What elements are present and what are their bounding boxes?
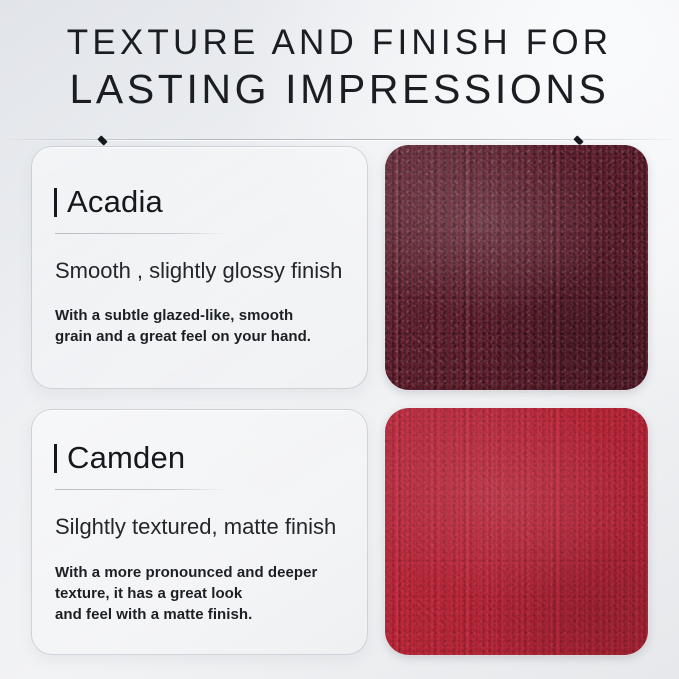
- card-acadia-title: Acadia: [67, 186, 163, 218]
- card-acadia: Acadia Smooth , slightly glossy finish W…: [31, 146, 368, 389]
- page-title-line-2: LASTING IMPRESSIONS: [0, 64, 679, 114]
- page-title-line-1: TEXTURE AND FINISH FOR: [0, 22, 679, 64]
- acadia-leather-swatch: [385, 145, 648, 390]
- accent-bar-icon: [54, 188, 57, 217]
- card-camden: Camden Silghtly textured, matte finish W…: [31, 409, 368, 655]
- card-camden-subtitle: Silghtly textured, matte finish: [55, 513, 336, 541]
- acadia-gloss-sheen: [385, 145, 648, 390]
- accent-bar-icon: [54, 444, 57, 473]
- card-acadia-description: With a subtle glazed-like, smooth grain …: [55, 305, 311, 347]
- infographic-page: TEXTURE AND FINISH FOR LASTING IMPRESSIO…: [0, 0, 679, 679]
- card-acadia-heading: Acadia: [54, 186, 163, 218]
- top-divider-rule: [0, 139, 679, 141]
- card-acadia-divider: [55, 233, 227, 234]
- card-camden-heading: Camden: [54, 442, 185, 474]
- camden-leather-swatch: [385, 408, 648, 655]
- page-title: TEXTURE AND FINISH FOR LASTING IMPRESSIO…: [0, 22, 679, 114]
- card-camden-divider: [55, 489, 227, 490]
- diamond-marker-left: [97, 135, 107, 145]
- card-camden-description: With a more pronounced and deeper textur…: [55, 562, 317, 625]
- card-acadia-subtitle: Smooth , slightly glossy finish: [55, 257, 342, 285]
- camden-matte-sheen: [385, 408, 648, 655]
- card-camden-title: Camden: [67, 442, 185, 474]
